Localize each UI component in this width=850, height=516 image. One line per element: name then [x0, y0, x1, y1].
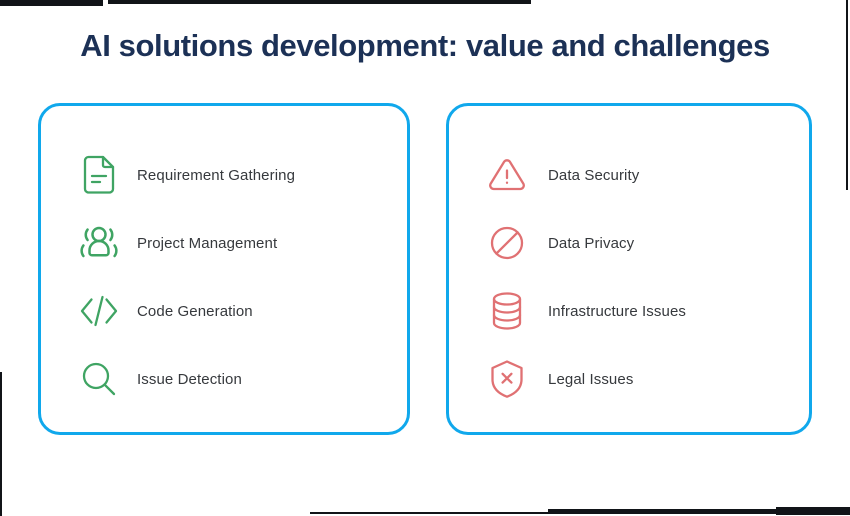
- list-item[interactable]: Infrastructure Issues: [481, 277, 809, 345]
- list-item[interactable]: Data Privacy: [481, 209, 809, 277]
- list-item[interactable]: Code Generation: [73, 277, 407, 345]
- challenges-card: Data Security Data Privacy: [446, 103, 812, 435]
- people-group-icon: [73, 221, 125, 265]
- list-item-label: Data Security: [548, 167, 639, 184]
- warning-triangle-icon: [481, 153, 533, 197]
- shield-x-icon: [481, 357, 533, 401]
- list-item-label: Legal Issues: [548, 371, 633, 388]
- page-edge-artifact: [776, 507, 850, 515]
- page-edge-artifact: [108, 0, 531, 4]
- slide-canvas: AI solutions development: value and chal…: [0, 0, 850, 516]
- value-card: Requirement Gathering Project Management: [38, 103, 410, 435]
- challenges-item-list: Data Security Data Privacy: [449, 106, 809, 432]
- list-item-label: Issue Detection: [137, 371, 242, 388]
- list-item[interactable]: Legal Issues: [481, 345, 809, 413]
- list-item[interactable]: Project Management: [73, 209, 407, 277]
- list-item-label: Requirement Gathering: [137, 167, 295, 184]
- code-brackets-icon: [73, 289, 125, 333]
- list-item[interactable]: Issue Detection: [73, 345, 407, 413]
- document-lines-icon: [73, 153, 125, 197]
- magnifier-icon: [73, 357, 125, 401]
- page-edge-artifact: [310, 512, 550, 514]
- database-icon: [481, 289, 533, 333]
- list-item[interactable]: Data Security: [481, 141, 809, 209]
- page-edge-artifact: [548, 509, 776, 514]
- value-item-list: Requirement Gathering Project Management: [41, 106, 407, 432]
- list-item-label: Code Generation: [137, 303, 253, 320]
- list-item-label: Data Privacy: [548, 235, 634, 252]
- list-item-label: Project Management: [137, 235, 277, 252]
- slide-title: AI solutions development: value and chal…: [0, 28, 850, 64]
- page-edge-artifact: [0, 372, 2, 516]
- prohibition-circle-icon: [481, 221, 533, 265]
- list-item[interactable]: Requirement Gathering: [73, 141, 407, 209]
- list-item-label: Infrastructure Issues: [548, 303, 686, 320]
- page-edge-artifact: [0, 0, 103, 6]
